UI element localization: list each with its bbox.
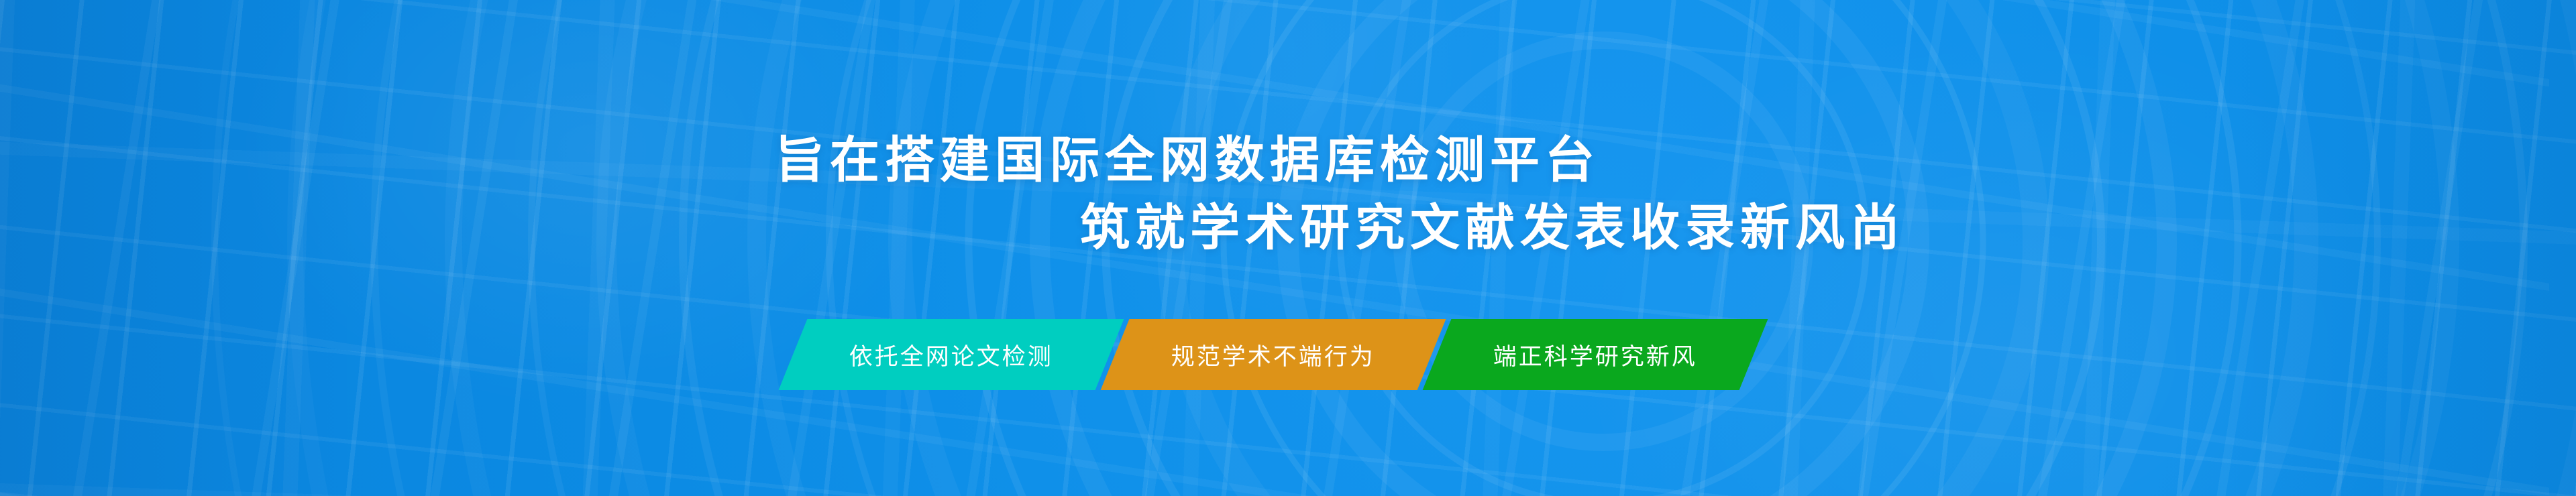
- feature-tag-strip: 依托全网论文检测 规范学术不端行为 端正科学研究新风: [778, 319, 1805, 391]
- background-grid-fine: [0, 0, 2576, 496]
- background-grid-medium: [0, 0, 2549, 496]
- background-base: [0, 0, 2576, 496]
- feature-tag-label: 依托全网论文检测: [849, 338, 1053, 372]
- feature-tag-detection[interactable]: 依托全网论文检测: [779, 319, 1124, 390]
- headline-line-2: 筑就学术研究文献发表收录新风尚: [1080, 203, 1905, 253]
- background-grid-large: [0, 0, 2576, 496]
- hero-banner: 旨在搭建国际全网数据库检测平台 筑就学术研究文献发表收录新风尚 依托全网论文检测…: [0, 0, 2576, 496]
- background-glow: [0, 0, 2576, 496]
- feature-tag-label: 规范学术不端行为: [1171, 338, 1375, 372]
- concentric-rings-decoration: [0, 0, 2576, 496]
- background-vignette: [0, 0, 2576, 496]
- headline-line-1: 旨在搭建国际全网数据库检测平台: [775, 135, 1600, 185]
- feature-tag-label: 端正科学研究新风: [1493, 338, 1697, 372]
- feature-tag-misconduct[interactable]: 规范学术不端行为: [1101, 319, 1446, 390]
- feature-tag-integrity[interactable]: 端正科学研究新风: [1423, 319, 1768, 390]
